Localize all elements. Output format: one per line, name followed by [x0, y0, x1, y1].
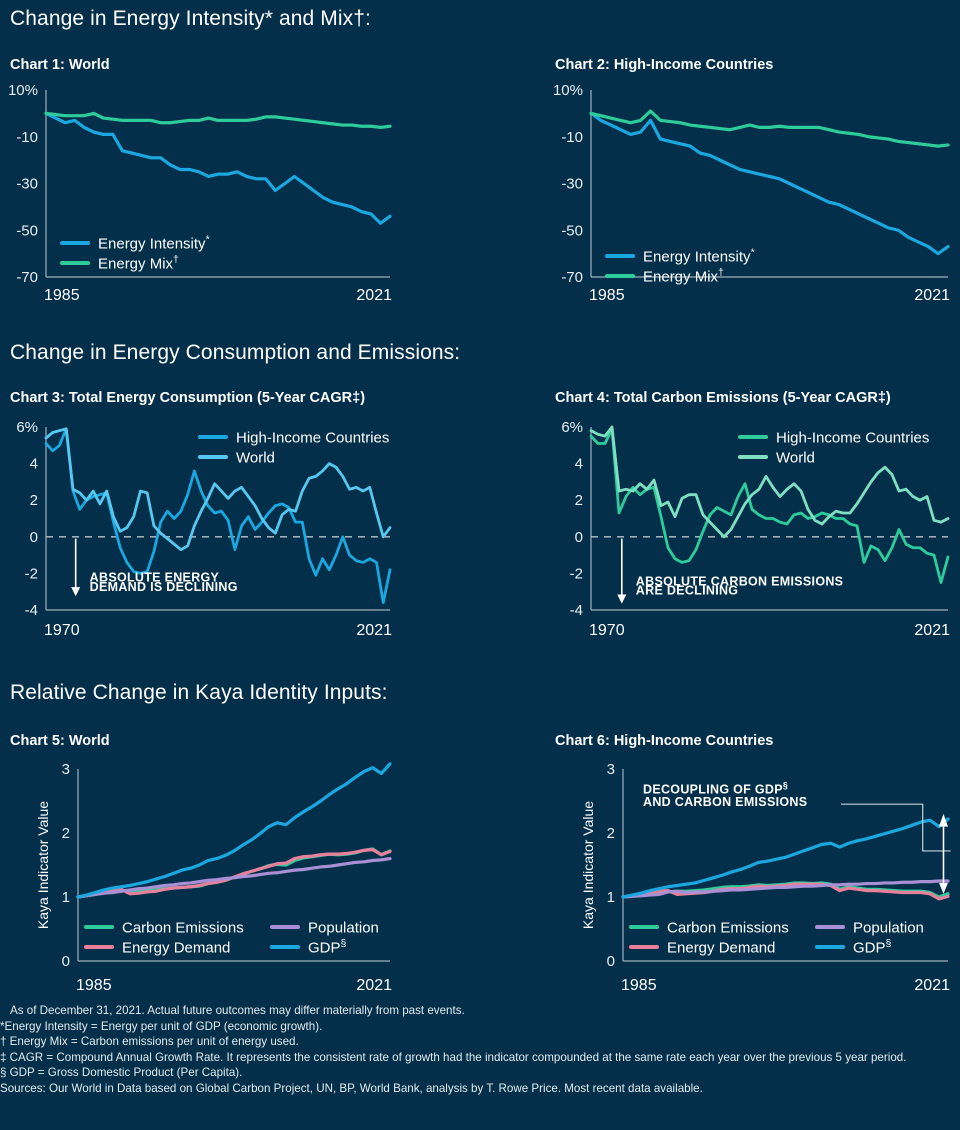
- svg-text:-4: -4: [570, 602, 583, 619]
- chart-5-world-kaya: 321019852021Kaya Indicator ValueCarbon E…: [0, 755, 450, 995]
- svg-text:1970: 1970: [44, 622, 80, 639]
- svg-text:1985: 1985: [44, 287, 80, 304]
- svg-text:-2: -2: [570, 565, 583, 582]
- infographic-page: Change in Energy Intensity* and Mix†: Ch…: [0, 0, 960, 1130]
- footnote-cagr: ‡ CAGR = Compound Annual Growth Rate. It…: [10, 1050, 950, 1066]
- svg-text:1985: 1985: [589, 287, 625, 304]
- svg-text:-50: -50: [16, 222, 38, 239]
- svg-text:World: World: [236, 450, 275, 467]
- svg-text:4: 4: [575, 456, 583, 473]
- chart-title-3: Chart 3: Total Energy Consumption (5-Yea…: [10, 390, 365, 406]
- svg-text:GDP§: GDP§: [308, 938, 347, 957]
- svg-text:-10: -10: [16, 129, 38, 146]
- svg-text:Carbon Emissions: Carbon Emissions: [667, 920, 789, 937]
- svg-text:-4: -4: [25, 602, 38, 619]
- svg-text:DEMAND IS DECLINING: DEMAND IS DECLINING: [90, 580, 238, 594]
- chart-title-1: Chart 1: World: [10, 57, 110, 73]
- footnote-asof: As of December 31, 2021. Actual future o…: [10, 1003, 950, 1019]
- svg-text:4: 4: [30, 456, 38, 473]
- chart-title-5: Chart 5: World: [10, 733, 110, 749]
- svg-text:ARE DECLINING: ARE DECLINING: [636, 583, 739, 597]
- svg-text:2021: 2021: [914, 287, 950, 304]
- svg-text:6%: 6%: [561, 419, 583, 436]
- svg-text:Energy Intensity*: Energy Intensity*: [98, 234, 210, 253]
- svg-text:-50: -50: [561, 222, 583, 239]
- chart-4-total-carbon-emissions: 6%420-2-419702021High-Income CountriesWo…: [545, 415, 960, 640]
- svg-text:-2: -2: [25, 565, 38, 582]
- svg-text:2021: 2021: [356, 977, 392, 994]
- svg-text:Population: Population: [853, 920, 924, 937]
- svg-text:-10: -10: [561, 129, 583, 146]
- svg-text:-30: -30: [561, 176, 583, 193]
- svg-text:2021: 2021: [356, 287, 392, 304]
- svg-text:GDP§: GDP§: [853, 938, 892, 957]
- svg-text:DECOUPLING OF GDP§: DECOUPLING OF GDP§: [643, 780, 788, 796]
- svg-text:6%: 6%: [16, 419, 38, 436]
- chart-2-high-income: 10%-10-30-50-7019852021Energy Intensity*…: [545, 80, 960, 305]
- chart-6-high-income-kaya: 321019852021Kaya Indicator ValueCarbon E…: [545, 755, 960, 995]
- svg-text:Energy Mix†: Energy Mix†: [98, 254, 179, 273]
- svg-text:AND CARBON EMISSIONS: AND CARBON EMISSIONS: [643, 795, 807, 809]
- chart-1-world: 10%-10-30-50-7019852021Energy Intensity*…: [0, 80, 450, 305]
- svg-text:1985: 1985: [76, 977, 112, 994]
- svg-text:Energy Demand: Energy Demand: [122, 940, 230, 957]
- svg-text:2021: 2021: [356, 622, 392, 639]
- svg-text:World: World: [776, 450, 815, 467]
- svg-text:Kaya Indicator Value: Kaya Indicator Value: [35, 801, 51, 929]
- svg-text:Energy Demand: Energy Demand: [667, 940, 775, 957]
- chart-title-2: Chart 2: High-Income Countries: [555, 57, 773, 73]
- chart-3-total-energy-consumption: 6%420-2-419702021High-Income CountriesWo…: [0, 415, 450, 640]
- svg-text:0: 0: [607, 953, 615, 970]
- svg-text:3: 3: [62, 761, 70, 778]
- svg-text:0: 0: [575, 529, 583, 546]
- svg-text:2: 2: [575, 492, 583, 509]
- footnote-energy-mix: † Energy Mix = Carbon emissions per unit…: [10, 1034, 950, 1050]
- chart-title-6: Chart 6: High-Income Countries: [555, 733, 773, 749]
- svg-text:0: 0: [62, 953, 70, 970]
- svg-text:Energy Mix†: Energy Mix†: [643, 267, 724, 286]
- section-title-energy-consumption-emissions: Change in Energy Consumption and Emissio…: [10, 341, 460, 365]
- footnote-energy-intensity: *Energy Intensity = Energy per unit of G…: [10, 1019, 950, 1035]
- svg-text:2: 2: [607, 825, 615, 842]
- svg-text:1985: 1985: [621, 977, 657, 994]
- svg-text:10%: 10%: [553, 82, 583, 99]
- footnotes: As of December 31, 2021. Actual future o…: [10, 1003, 950, 1097]
- svg-text:Kaya Indicator Value: Kaya Indicator Value: [580, 801, 596, 929]
- svg-text:0: 0: [30, 529, 38, 546]
- footnote-gdp: § GDP = Gross Domestic Product (Per Capi…: [10, 1065, 950, 1081]
- svg-text:1: 1: [607, 889, 615, 906]
- svg-text:High-Income Countries: High-Income Countries: [236, 430, 389, 447]
- section-title-energy-intensity-mix: Change in Energy Intensity* and Mix†:: [10, 7, 371, 31]
- svg-text:2021: 2021: [914, 622, 950, 639]
- footnote-sources: Sources: Our World in Data based on Glob…: [10, 1081, 950, 1097]
- svg-text:10%: 10%: [8, 82, 38, 99]
- svg-text:-30: -30: [16, 176, 38, 193]
- svg-text:2: 2: [62, 825, 70, 842]
- svg-text:1970: 1970: [589, 622, 625, 639]
- section-title-kaya-identity: Relative Change in Kaya Identity Inputs:: [10, 681, 388, 705]
- svg-text:3: 3: [607, 761, 615, 778]
- svg-text:2021: 2021: [914, 977, 950, 994]
- svg-text:Population: Population: [308, 920, 379, 937]
- svg-text:-70: -70: [16, 269, 38, 286]
- svg-text:Carbon Emissions: Carbon Emissions: [122, 920, 244, 937]
- chart-title-4: Chart 4: Total Carbon Emissions (5-Year …: [555, 390, 891, 406]
- svg-text:High-Income Countries: High-Income Countries: [776, 430, 929, 447]
- svg-text:-70: -70: [561, 269, 583, 286]
- svg-text:2: 2: [30, 492, 38, 509]
- svg-text:Energy Intensity*: Energy Intensity*: [643, 247, 755, 266]
- svg-text:1: 1: [62, 889, 70, 906]
